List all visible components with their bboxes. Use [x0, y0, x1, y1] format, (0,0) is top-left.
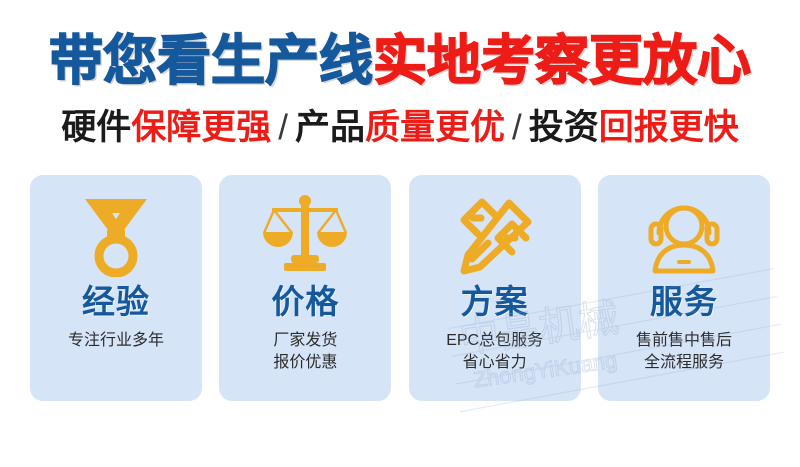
- feature-card-price[interactable]: 价格 厂家发货 报价优惠: [219, 175, 391, 401]
- page-title: 带您看生产线实地考察更放心: [49, 34, 751, 88]
- feature-card-desc: 售前售中售后 全流程服务: [636, 330, 732, 373]
- feature-card-solution[interactable]: 方案 EPC总包服务 省心省力: [409, 175, 581, 401]
- subtitle-seg-1-black: 硬件: [61, 108, 131, 147]
- feature-card-desc: EPC总包服务 省心省力: [446, 330, 543, 373]
- headline-blue-text: 带您看生产线: [49, 31, 373, 91]
- feature-card-desc: 厂家发货 报价优惠: [273, 330, 337, 373]
- subtitle-separator-2: /: [505, 108, 529, 147]
- feature-card-title: 价格: [271, 285, 339, 318]
- feature-card-title: 服务: [650, 285, 718, 318]
- subtitle-seg-2-red: 质量更优: [365, 108, 505, 147]
- feature-card-title: 方案: [461, 285, 529, 318]
- subtitle-seg-1-red: 保障更强: [131, 108, 271, 147]
- feature-card-title: 经验: [82, 285, 150, 318]
- promo-banner: 带您看生产线实地考察更放心 硬件保障更强/产品质量更优/投资回报更快 经验: [0, 0, 800, 466]
- medal-icon: [70, 191, 162, 279]
- feature-card-list: 经验 专注行业多年 价格 厂家发货 报价优惠: [30, 175, 770, 401]
- headline-red-text: 实地考察更放心: [373, 31, 751, 91]
- subtitle-seg-2-black: 产品: [295, 108, 365, 147]
- feature-card-experience[interactable]: 经验 专注行业多年: [30, 175, 202, 401]
- subtitle-seg-3-black: 投资: [529, 108, 599, 147]
- pencil-design-icon: [449, 191, 541, 279]
- subtitle: 硬件保障更强/产品质量更优/投资回报更快: [61, 110, 739, 145]
- feature-card-desc: 专注行业多年: [68, 330, 164, 352]
- headset-support-icon: [638, 191, 730, 279]
- balance-scale-icon: [259, 191, 351, 279]
- subtitle-seg-3-red: 回报更快: [599, 108, 739, 147]
- subtitle-separator-1: /: [271, 108, 295, 147]
- feature-card-service[interactable]: 服务 售前售中售后 全流程服务: [598, 175, 770, 401]
